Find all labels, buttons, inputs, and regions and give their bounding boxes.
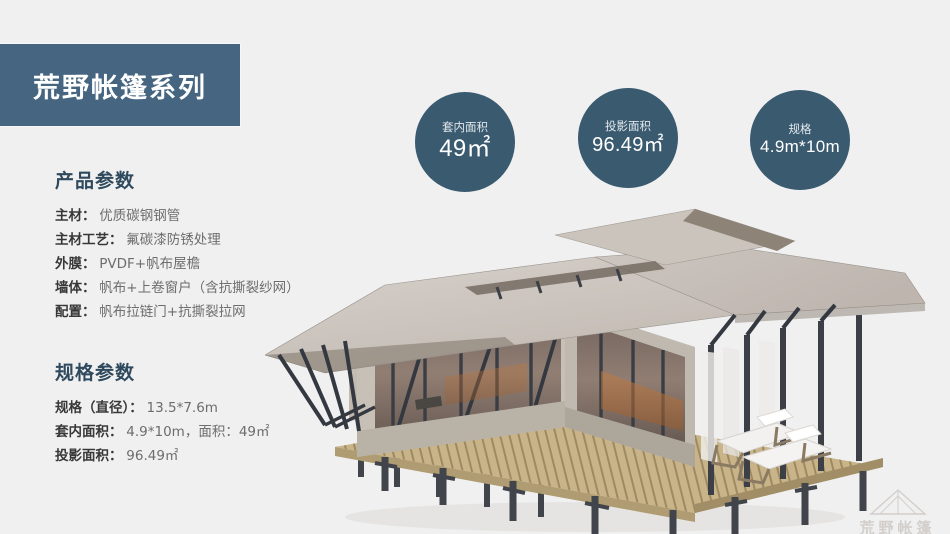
stat-circle-interior-area: 套内面积 49㎡ xyxy=(415,92,515,192)
stat-caption: 套内面积 xyxy=(442,121,488,134)
spec-label: 投影面积： xyxy=(55,448,123,464)
stat-value: 96.49㎡ xyxy=(592,134,664,156)
title-banner: 荒野帐篷系列 xyxy=(0,44,240,126)
spec-label: 配置： xyxy=(55,304,96,320)
spec-row: 主材： 优质碳钢钢管 xyxy=(55,204,300,228)
spec-value: 96.49㎡ xyxy=(126,448,178,464)
section-heading-product: 产品参数 xyxy=(55,166,300,193)
tent-render: 荒野帐篷 WILD TENT xyxy=(265,195,950,534)
spec-value: 优质碳钢钢管 xyxy=(99,208,180,224)
page-title: 荒野帐篷系列 xyxy=(33,66,207,105)
spec-row: 墙体： 帆布+上卷窗户（含抗撕裂纱网） xyxy=(55,276,300,300)
stat-caption: 投影面积 xyxy=(605,120,651,133)
spec-row: 配置： 帆布拉链门+抗撕裂拉网 xyxy=(55,300,300,324)
spec-label: 主材： xyxy=(55,208,96,224)
stat-value: 4.9m*10m xyxy=(760,138,840,157)
spec-row: 主材工艺： 氟碳漆防锈处理 xyxy=(55,228,300,252)
spec-label: 外膜： xyxy=(55,256,96,272)
spec-label: 墙体： xyxy=(55,280,96,296)
spec-label: 主材工艺： xyxy=(55,232,123,248)
stat-circle-projected-area: 投影面积 96.49㎡ xyxy=(578,88,678,188)
spec-label: 套内面积： xyxy=(55,424,123,440)
spec-row: 套内面积： 4.9*10m，面积：49㎡ xyxy=(55,420,270,444)
stat-value: 49㎡ xyxy=(439,136,491,162)
spec-value: 4.9*10m，面积：49㎡ xyxy=(126,424,269,440)
spec-value: 帆布拉链门+抗撕裂拉网 xyxy=(99,304,245,320)
stat-circle-dimensions: 规格 4.9m*10m xyxy=(750,90,850,190)
spec-value: 氟碳漆防锈处理 xyxy=(126,232,221,248)
size-parameters-block: 规格参数 规格（直径）： 13.5*7.6m 套内面积： 4.9*10m，面积：… xyxy=(55,358,270,468)
spec-row: 投影面积： 96.49㎡ xyxy=(55,444,270,468)
spec-row: 规格（直径）： 13.5*7.6m xyxy=(55,396,270,420)
spec-label: 规格（直径）： xyxy=(55,400,143,416)
tent-illustration xyxy=(265,195,950,534)
section-heading-size: 规格参数 xyxy=(55,358,270,385)
slide-root: 荒野帐篷系列 产品参数 主材： 优质碳钢钢管 主材工艺： 氟碳漆防锈处理 外膜：… xyxy=(0,0,950,534)
product-parameters-block: 产品参数 主材： 优质碳钢钢管 主材工艺： 氟碳漆防锈处理 外膜： PVDF+帆… xyxy=(55,166,300,324)
stat-caption: 规格 xyxy=(789,123,812,136)
spec-row: 外膜： PVDF+帆布屋檐 xyxy=(55,252,300,276)
spec-value: PVDF+帆布屋檐 xyxy=(99,256,200,272)
spec-value: 13.5*7.6m xyxy=(147,400,218,416)
